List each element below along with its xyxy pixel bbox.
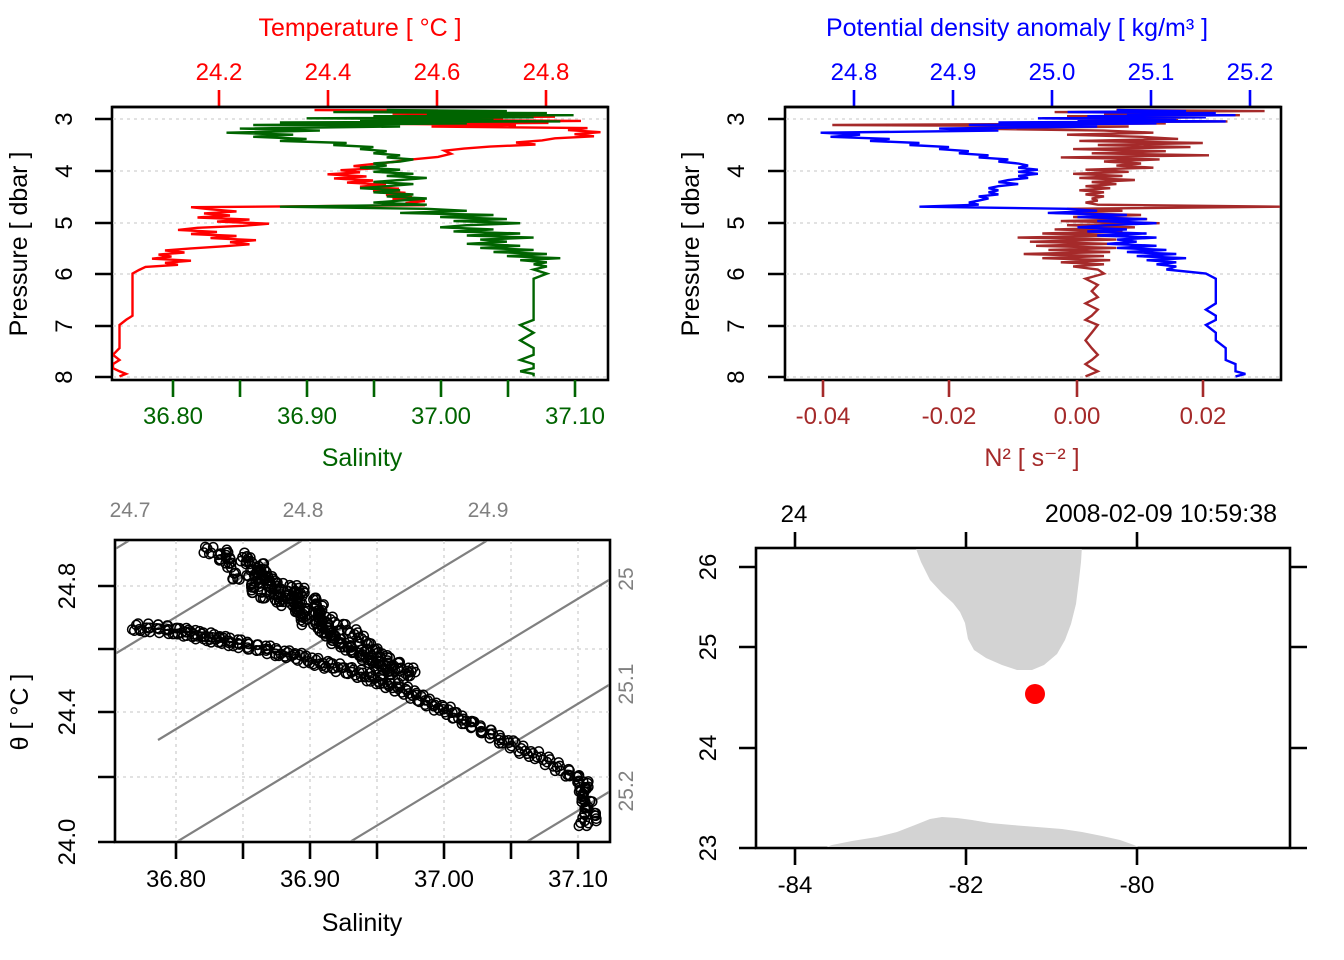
svg-text:6: 6 — [51, 267, 78, 280]
svg-text:24.8: 24.8 — [831, 59, 878, 86]
density-axis-ticks — [854, 90, 1250, 107]
salinity-profile-line — [227, 110, 574, 376]
theta-axis-title: θ [ °C ] — [6, 674, 34, 751]
svg-text:4: 4 — [51, 164, 78, 177]
svg-text:-0.02: -0.02 — [922, 403, 977, 430]
svg-text:7: 7 — [51, 319, 78, 332]
station-location-marker[interactable] — [1025, 684, 1045, 704]
ts-diagram-svg: 24.7 24.8 24.9 25 25.1 25.2 θ [ °C ] 24.… — [0, 480, 672, 960]
map-longitude-labels: -84 -82 -80 — [778, 872, 1155, 899]
svg-text:-84: -84 — [778, 872, 813, 899]
pressure-axis-ticks-density — [768, 119, 785, 377]
svg-text:4: 4 — [723, 164, 750, 177]
salinity-axis-title: Salinity — [322, 444, 403, 472]
theta-tick-labels: 24.8 24.4 24.0 — [54, 563, 81, 866]
svg-text:25.2: 25.2 — [615, 771, 638, 812]
salinity-ts-tick-labels: 36.80 36.90 37.00 37.10 — [146, 866, 608, 893]
isopycnal-labels-top: 24.7 24.8 24.9 — [110, 499, 509, 522]
svg-text:36.90: 36.90 — [280, 866, 340, 893]
map-latitude-labels: 26 25 24 23 — [695, 554, 722, 862]
panel-temperature-salinity-profile: Temperature [ °C ] 24.2 24.4 24.6 24.8 P… — [0, 0, 672, 480]
svg-text:25.1: 25.1 — [615, 664, 638, 705]
panel-density-n2-profile: Potential density anomaly [ kg/m³ ] 24.8… — [672, 0, 1344, 480]
n2-axis-title: N² [ s⁻² ] — [984, 444, 1079, 472]
svg-text:24.0: 24.0 — [54, 819, 81, 866]
svg-text:24.4: 24.4 — [305, 59, 352, 86]
svg-text:6: 6 — [723, 267, 750, 280]
svg-text:7: 7 — [723, 319, 750, 332]
pressure-tick-labels: 3 4 5 6 7 8 — [51, 112, 78, 383]
density-axis-title-text: Potential density anomaly [ kg/m³ ] — [826, 14, 1208, 42]
plot-box-density-profile — [785, 107, 1281, 380]
pressure-axis-title-right-panel: Pressure [ dbar ] — [677, 152, 705, 337]
n2-tick-labels: -0.04 -0.02 0.00 0.02 — [796, 403, 1227, 430]
ctd-summary-figure: Temperature [ °C ] 24.2 24.4 24.6 24.8 P… — [0, 0, 1344, 960]
gridlines-ts-diagram — [116, 541, 609, 841]
svg-text:36.80: 36.80 — [146, 866, 206, 893]
svg-text:-82: -82 — [949, 872, 984, 899]
profile-density-svg: Potential density anomaly [ kg/m³ ] 24.8… — [672, 0, 1344, 480]
svg-text:8: 8 — [51, 370, 78, 383]
svg-text:24: 24 — [695, 735, 722, 762]
svg-text:25.1: 25.1 — [1128, 59, 1175, 86]
svg-text:37.00: 37.00 — [414, 866, 474, 893]
temperature-axis-ticks — [219, 90, 546, 107]
pressure-axis-ticks — [95, 119, 112, 377]
n2-axis-ticks — [823, 380, 1203, 397]
salinity-ts-axis-title: Salinity — [322, 909, 403, 937]
svg-text:24.8: 24.8 — [283, 499, 324, 522]
svg-text:3: 3 — [51, 112, 78, 125]
svg-text:37.10: 37.10 — [548, 866, 608, 893]
svg-text:36.90: 36.90 — [277, 403, 337, 430]
svg-text:25.2: 25.2 — [1227, 59, 1274, 86]
svg-text:3: 3 — [723, 112, 750, 125]
svg-text:36.80: 36.80 — [143, 403, 203, 430]
salinity-axis-ticks — [173, 380, 575, 397]
density-profile-line — [821, 110, 1246, 376]
svg-text:-80: -80 — [1120, 872, 1155, 899]
svg-text:37.10: 37.10 — [545, 403, 605, 430]
svg-text:0.02: 0.02 — [1180, 403, 1227, 430]
density-tick-labels: 24.8 24.9 25.0 25.1 25.2 — [831, 59, 1274, 86]
panel-ts-diagram: 24.7 24.8 24.9 25 25.1 25.2 θ [ °C ] 24.… — [0, 480, 672, 960]
temperature-tick-labels: 24.2 24.4 24.6 24.8 — [196, 59, 570, 86]
svg-text:25: 25 — [695, 634, 722, 661]
svg-text:24.8: 24.8 — [54, 563, 81, 610]
svg-text:23: 23 — [695, 835, 722, 862]
pressure-tick-labels-density: 3 4 5 6 7 8 — [723, 112, 750, 383]
gridlines-horizontal-density — [786, 119, 1280, 377]
density-axis-title: Potential density anomaly [ kg/m³ ] — [826, 14, 1208, 42]
svg-text:24.6: 24.6 — [414, 59, 461, 86]
svg-text:24.8: 24.8 — [523, 59, 570, 86]
panel-station-map: 24 2008-02-09 10:59:38 26 25 24 23 — [672, 480, 1344, 960]
svg-text:0.00: 0.00 — [1054, 403, 1101, 430]
svg-text:25: 25 — [615, 567, 638, 590]
svg-text:37.00: 37.00 — [411, 403, 471, 430]
map-top-left-label: 24 — [781, 501, 808, 528]
map-right-ticks — [1290, 567, 1307, 848]
map-svg: 24 2008-02-09 10:59:38 26 25 24 23 — [672, 480, 1344, 960]
svg-text:24.4: 24.4 — [54, 689, 81, 736]
svg-text:26: 26 — [695, 554, 722, 581]
temperature-axis-title: Temperature [ °C ] — [258, 14, 461, 42]
svg-text:25.0: 25.0 — [1029, 59, 1076, 86]
svg-text:8: 8 — [723, 370, 750, 383]
svg-text:24.9: 24.9 — [468, 499, 509, 522]
profile-ts-svg: Temperature [ °C ] 24.2 24.4 24.6 24.8 P… — [0, 0, 672, 480]
isopycnal-labels-right: 25 25.1 25.2 — [615, 567, 638, 811]
svg-text:5: 5 — [51, 216, 78, 229]
svg-text:24.9: 24.9 — [930, 59, 977, 86]
n2-axis-title-text: N² [ s⁻² ] — [984, 444, 1079, 472]
salinity-tick-labels: 36.80 36.90 37.00 37.10 — [143, 403, 605, 430]
map-top-ticks — [795, 532, 1137, 548]
map-left-ticks — [739, 567, 756, 848]
svg-text:-0.04: -0.04 — [796, 403, 851, 430]
svg-text:24.7: 24.7 — [110, 499, 151, 522]
map-bottom-ticks — [795, 848, 1137, 865]
map-timestamp-title: 2008-02-09 10:59:38 — [1045, 500, 1277, 528]
svg-text:5: 5 — [723, 216, 750, 229]
theta-axis-ticks — [98, 586, 115, 842]
svg-text:24.2: 24.2 — [196, 59, 243, 86]
salinity-ts-ticks — [176, 842, 578, 859]
pressure-axis-title-left: Pressure [ dbar ] — [5, 152, 33, 337]
